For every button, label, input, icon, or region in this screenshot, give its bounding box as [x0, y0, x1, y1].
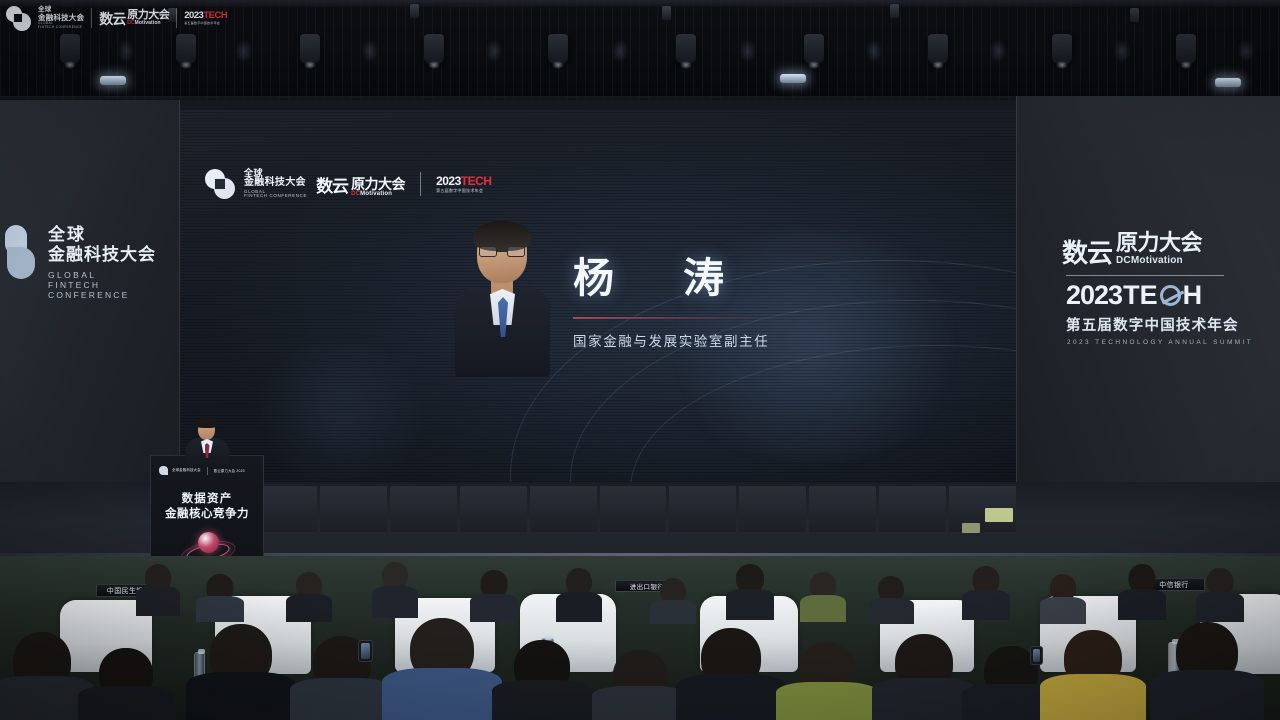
screen-year: 2023TECH [436, 175, 491, 187]
watermark-gfc-wordmark: 全球 金融科技大会 GLOBAL FINTECH CONFERENCE [38, 7, 84, 29]
audience-person [1040, 574, 1086, 624]
audience-person [372, 562, 418, 618]
audience-person-front [382, 618, 502, 720]
ceiling-rigging-drop [410, 4, 419, 18]
wall-accent-panel-2 [962, 523, 980, 533]
audience-person [868, 576, 914, 624]
gfc-logo-icon [205, 169, 235, 199]
podium-logo-row: 全球金融科技大会 数云原力大会 2023 [159, 465, 255, 476]
screen-year-block: 2023TECH 第五届数字中国技术年会 [436, 175, 491, 193]
right-wall-summit-en: 2023 TECHNOLOGY ANNUAL SUMMIT [1062, 339, 1262, 346]
audience-person-front [290, 636, 394, 720]
right-wall-year: 2023 [1066, 282, 1122, 309]
live-speaker-hair [196, 418, 217, 428]
ceiling-light-fixture [780, 74, 806, 83]
right-wall-tech-right: H [1183, 282, 1203, 309]
watermark-year-sub: 第五届数字中国技术年会 [184, 22, 227, 25]
podium-logo-label-1: 全球金融科技大会 [172, 468, 201, 472]
wall-accent-panel-1 [985, 508, 1013, 522]
left-wall-cn1: 全球 [48, 225, 180, 245]
left-wall-signage: 全球 金融科技大会 GLOBAL FINTECH CONFERENCE [5, 225, 180, 300]
audience-person-front [78, 648, 174, 720]
ceiling-rigging-drop [662, 6, 671, 20]
tech-e-circle-icon [1160, 285, 1181, 306]
smartphone [358, 640, 373, 662]
watermark-en2: FINTECH CONFERENCE [38, 26, 84, 29]
broadcast-watermark: 全球 金融科技大会 GLOBAL FINTECH CONFERENCE 数云 原… [6, 3, 227, 33]
audience-person [556, 568, 602, 622]
watermark-divider-2 [176, 8, 177, 28]
podium-logo-label-2: 数云原力大会 2023 [214, 468, 245, 473]
stage-spotlight [362, 40, 378, 62]
speaker-name-rule [573, 317, 773, 319]
screen-gfc-en2: FINTECH CONFERENCE [244, 194, 307, 199]
podium-headline-2: 金融核心竞争力 [151, 505, 263, 521]
watermark-dc-en: DCMotivation [127, 21, 169, 26]
stage-spotlight [300, 34, 320, 64]
stage-spotlight [612, 40, 628, 62]
audience-person-front [492, 640, 592, 720]
left-wall-en1: GLOBAL [48, 270, 180, 280]
audience-person [800, 572, 846, 622]
screen-logo-divider [420, 172, 421, 196]
stage-spotlight [486, 40, 502, 62]
audience-person-front [186, 624, 296, 720]
left-wall-wordmark: 全球 金融科技大会 GLOBAL FINTECH CONFERENCE [48, 225, 180, 300]
watermark-cn2: 金融科技大会 [38, 14, 84, 22]
podium-gfc-icon [159, 466, 168, 475]
gfc-logo-icon-watermark [6, 6, 31, 31]
stage-spotlight [1238, 40, 1254, 62]
ceiling-rigging-drop [890, 4, 899, 18]
gfc-logo-icon-left [5, 225, 39, 281]
stage-spotlight [1052, 34, 1072, 64]
live-speaker-at-podium [185, 418, 229, 462]
speaker-title: 国家金融与发展实验室副主任 [573, 330, 903, 350]
screen-speaker-info: 杨 涛 国家金融与发展实验室副主任 [573, 244, 903, 350]
screen-dc-wordmark: 数云 原力大会 DCMotivation [316, 172, 405, 197]
stage-spotlight [740, 40, 756, 62]
right-wall-signage: 数云 原力大会 DCMotivation 2023 TE H 第五届数字中国技术… [1062, 232, 1262, 346]
audience-person [962, 566, 1010, 620]
watermark-year: 2023TECH [184, 11, 227, 21]
watermark-divider-1 [91, 8, 92, 28]
audience-person [196, 574, 244, 622]
podium-headline-1: 数据资产 [151, 490, 263, 506]
audience-person [136, 564, 180, 616]
right-wall-cn: 原力大会 [1116, 232, 1202, 254]
speaker-name: 杨 涛 [573, 244, 903, 304]
stage-spotlight [424, 34, 444, 64]
podium-logo-divider [207, 467, 208, 475]
screen-dc-sy: 数云 [316, 172, 348, 197]
audience-person-front [1150, 622, 1264, 720]
screen-gfc-wordmark: 全球 金融科技大会 GLOBAL FINTECH CONFERENCE [244, 169, 307, 199]
watermark-dc-wordmark: 数云 原力大会 DCMotivation [99, 10, 169, 26]
right-wall-summit-cn: 第五届数字中国技术年会 [1062, 314, 1262, 335]
audience-person [1196, 568, 1244, 622]
stage-spotlight [990, 40, 1006, 62]
stage-spotlight [676, 34, 696, 64]
stage-spotlight [804, 34, 824, 64]
audience-person-front [872, 634, 976, 720]
right-wall-tech-line: 2023 TE H [1062, 282, 1262, 309]
audience-person [726, 564, 774, 620]
stage-spotlight [548, 34, 568, 64]
audience-person-front [776, 642, 878, 720]
audience-person [470, 570, 518, 622]
ceiling-light-fixture [100, 76, 126, 85]
screen-logo-bar: 全球 金融科技大会 GLOBAL FINTECH CONFERENCE 数云 原… [205, 165, 495, 203]
right-wall-sy: 数云 [1062, 240, 1112, 266]
screen-gfc-cn2: 金融科技大会 [244, 178, 307, 189]
ceiling-light-fixture [1215, 78, 1241, 87]
stage-spotlight [236, 40, 252, 62]
stage-spotlight [60, 34, 80, 64]
right-wall-divider [1066, 275, 1224, 276]
audience-person [1118, 564, 1166, 620]
audience-area: 中国民生银行 进出口银行 中信银行 [0, 556, 1280, 720]
audience-person [650, 578, 696, 624]
stage-spotlight [928, 34, 948, 64]
stage-spotlight [866, 40, 882, 62]
ceiling-rigging-drop [1130, 8, 1139, 22]
right-wall-en: DCMotivation [1116, 256, 1202, 266]
screen-dc-cn: 原力大会 [351, 177, 405, 191]
left-wall-en2: FINTECH CONFERENCE [48, 280, 180, 300]
stage-spotlight [1114, 40, 1130, 62]
audience-person [286, 572, 332, 622]
audience-person-front [592, 650, 688, 720]
right-wall-tech-left: TE [1123, 282, 1158, 309]
stage-spotlight [176, 34, 196, 64]
left-wall-cn2: 金融科技大会 [48, 245, 180, 265]
audience-person-front [1040, 630, 1146, 720]
smartphone [1030, 646, 1043, 665]
conference-stage-photo: 全球 金融科技大会 GLOBAL FINTECH CONFERENCE 数云 原… [0, 0, 1280, 720]
screen-glow-2 [240, 340, 440, 482]
stage-spotlight [118, 40, 134, 62]
stage-spotlight [1176, 34, 1196, 64]
screen-year-sub: 第五届数字中国技术年会 [436, 189, 491, 193]
audience-person-front [676, 628, 786, 720]
screen-speaker-portrait [455, 225, 550, 375]
screen-dc-en: DCMotivation [351, 191, 405, 197]
right-wall-dc-wordmark: 数云 原力大会 DCMotivation [1062, 232, 1262, 266]
lower-wall-panel-grid [180, 486, 1016, 532]
watermark-dc-sy: 数云 [99, 12, 125, 26]
glasses-icon [479, 246, 525, 257]
watermark-year-block: 2023TECH 第五届数字中国技术年会 [184, 11, 227, 26]
